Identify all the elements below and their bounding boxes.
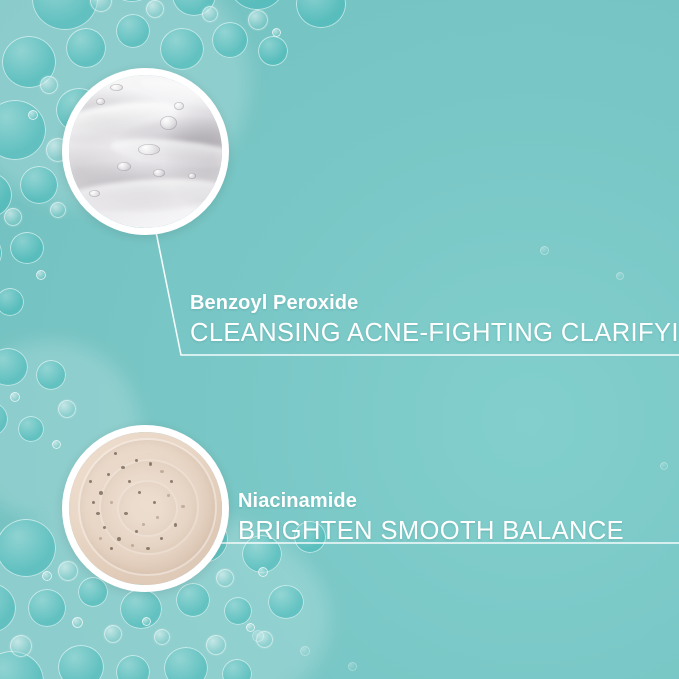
ingredient-infographic: Benzoyl Peroxide CLEANSING ACNE-FIGHTING… — [0, 0, 679, 679]
label-niacinamide: Niacinamide BRIGHTEN SMOOTH BALANCE — [238, 491, 624, 545]
swatch-niacinamide — [62, 425, 229, 592]
ingredient-benefits-niacinamide: BRIGHTEN SMOOTH BALANCE — [238, 517, 624, 545]
label-benzoyl-peroxide: Benzoyl Peroxide CLEANSING ACNE-FIGHTING… — [190, 293, 679, 347]
ingredient-benefits-benzoyl-peroxide: CLEANSING ACNE-FIGHTING CLARIFYING — [190, 319, 679, 347]
gel-texture — [62, 68, 229, 235]
ingredient-name-benzoyl-peroxide: Benzoyl Peroxide — [190, 293, 679, 314]
ingredient-name-niacinamide: Niacinamide — [238, 491, 624, 512]
serum-texture — [62, 425, 229, 592]
swatch-benzoyl-peroxide — [62, 68, 229, 235]
